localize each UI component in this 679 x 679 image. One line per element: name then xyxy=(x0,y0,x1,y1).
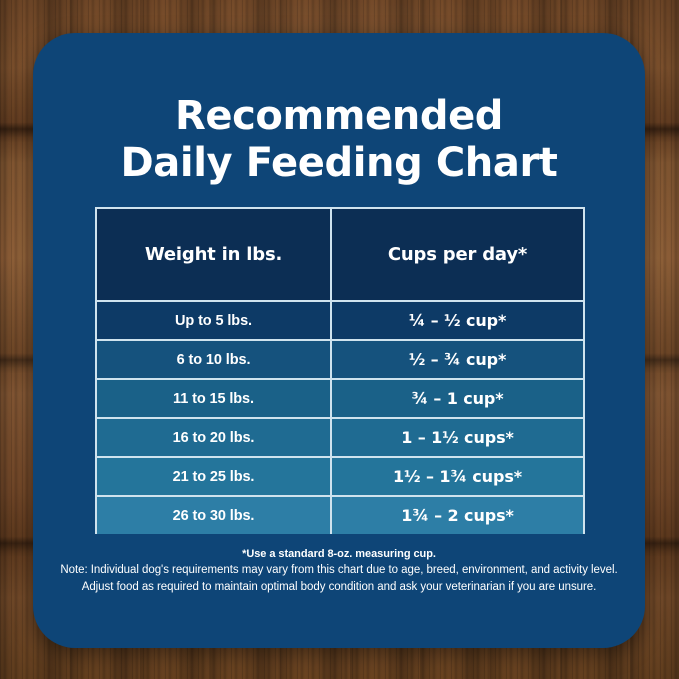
cell-cups: 1½ – 1¾ cups* xyxy=(332,458,583,495)
feeding-chart-card: Recommended Daily Feeding Chart Weight i… xyxy=(33,33,645,648)
table-row: Up to 5 lbs. ¼ – ½ cup* xyxy=(97,300,583,339)
feeding-table: Weight in lbs. Cups per day* Up to 5 lbs… xyxy=(95,207,585,534)
page-title-line-1: Recommended xyxy=(33,93,645,140)
cell-weight: Up to 5 lbs. xyxy=(97,302,332,339)
cell-weight: 21 to 25 lbs. xyxy=(97,458,332,495)
cell-cups: ¾ – 1 cup* xyxy=(332,380,583,417)
table-row: 11 to 15 lbs. ¾ – 1 cup* xyxy=(97,378,583,417)
table-header-row: Weight in lbs. Cups per day* xyxy=(97,209,583,300)
column-header-cups: Cups per day* xyxy=(332,209,583,300)
footnote-note-line-1: Note: Individual dog's requirements may … xyxy=(33,562,645,579)
cell-weight: 11 to 15 lbs. xyxy=(97,380,332,417)
cell-weight: 16 to 20 lbs. xyxy=(97,419,332,456)
cell-weight: 26 to 30 lbs. xyxy=(97,497,332,534)
footnotes: *Use a standard 8-oz. measuring cup. Not… xyxy=(33,546,645,596)
cell-weight: 6 to 10 lbs. xyxy=(97,341,332,378)
table-row: 21 to 25 lbs. 1½ – 1¾ cups* xyxy=(97,456,583,495)
cell-cups: ½ – ¾ cup* xyxy=(332,341,583,378)
page-title: Recommended Daily Feeding Chart xyxy=(33,93,645,187)
page-title-line-2: Daily Feeding Chart xyxy=(33,140,645,187)
table-row: 16 to 20 lbs. 1 – 1½ cups* xyxy=(97,417,583,456)
table-row: 6 to 10 lbs. ½ – ¾ cup* xyxy=(97,339,583,378)
table-row: 26 to 30 lbs. 1¾ – 2 cups* xyxy=(97,495,583,534)
cell-cups: 1¾ – 2 cups* xyxy=(332,497,583,534)
cell-cups: 1 – 1½ cups* xyxy=(332,419,583,456)
column-header-weight: Weight in lbs. xyxy=(97,209,332,300)
footnote-note-line-2: Adjust food as required to maintain opti… xyxy=(33,579,645,596)
cell-cups: ¼ – ½ cup* xyxy=(332,302,583,339)
footnote-measuring-cup: *Use a standard 8-oz. measuring cup. xyxy=(33,546,645,562)
